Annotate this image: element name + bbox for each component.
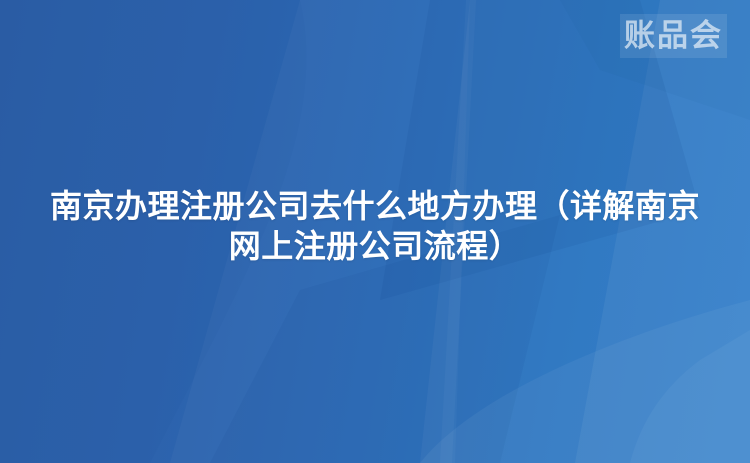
article-hero-banner: 账品会 南京办理注册公司去什么地方办理（详解南京网上注册公司流程） bbox=[0, 0, 750, 463]
page-title: 南京办理注册公司去什么地方办理（详解南京网上注册公司流程） bbox=[34, 186, 716, 266]
site-watermark: 账品会 bbox=[620, 14, 727, 58]
banner-title-container: 南京办理注册公司去什么地方办理（详解南京网上注册公司流程） bbox=[0, 186, 750, 266]
